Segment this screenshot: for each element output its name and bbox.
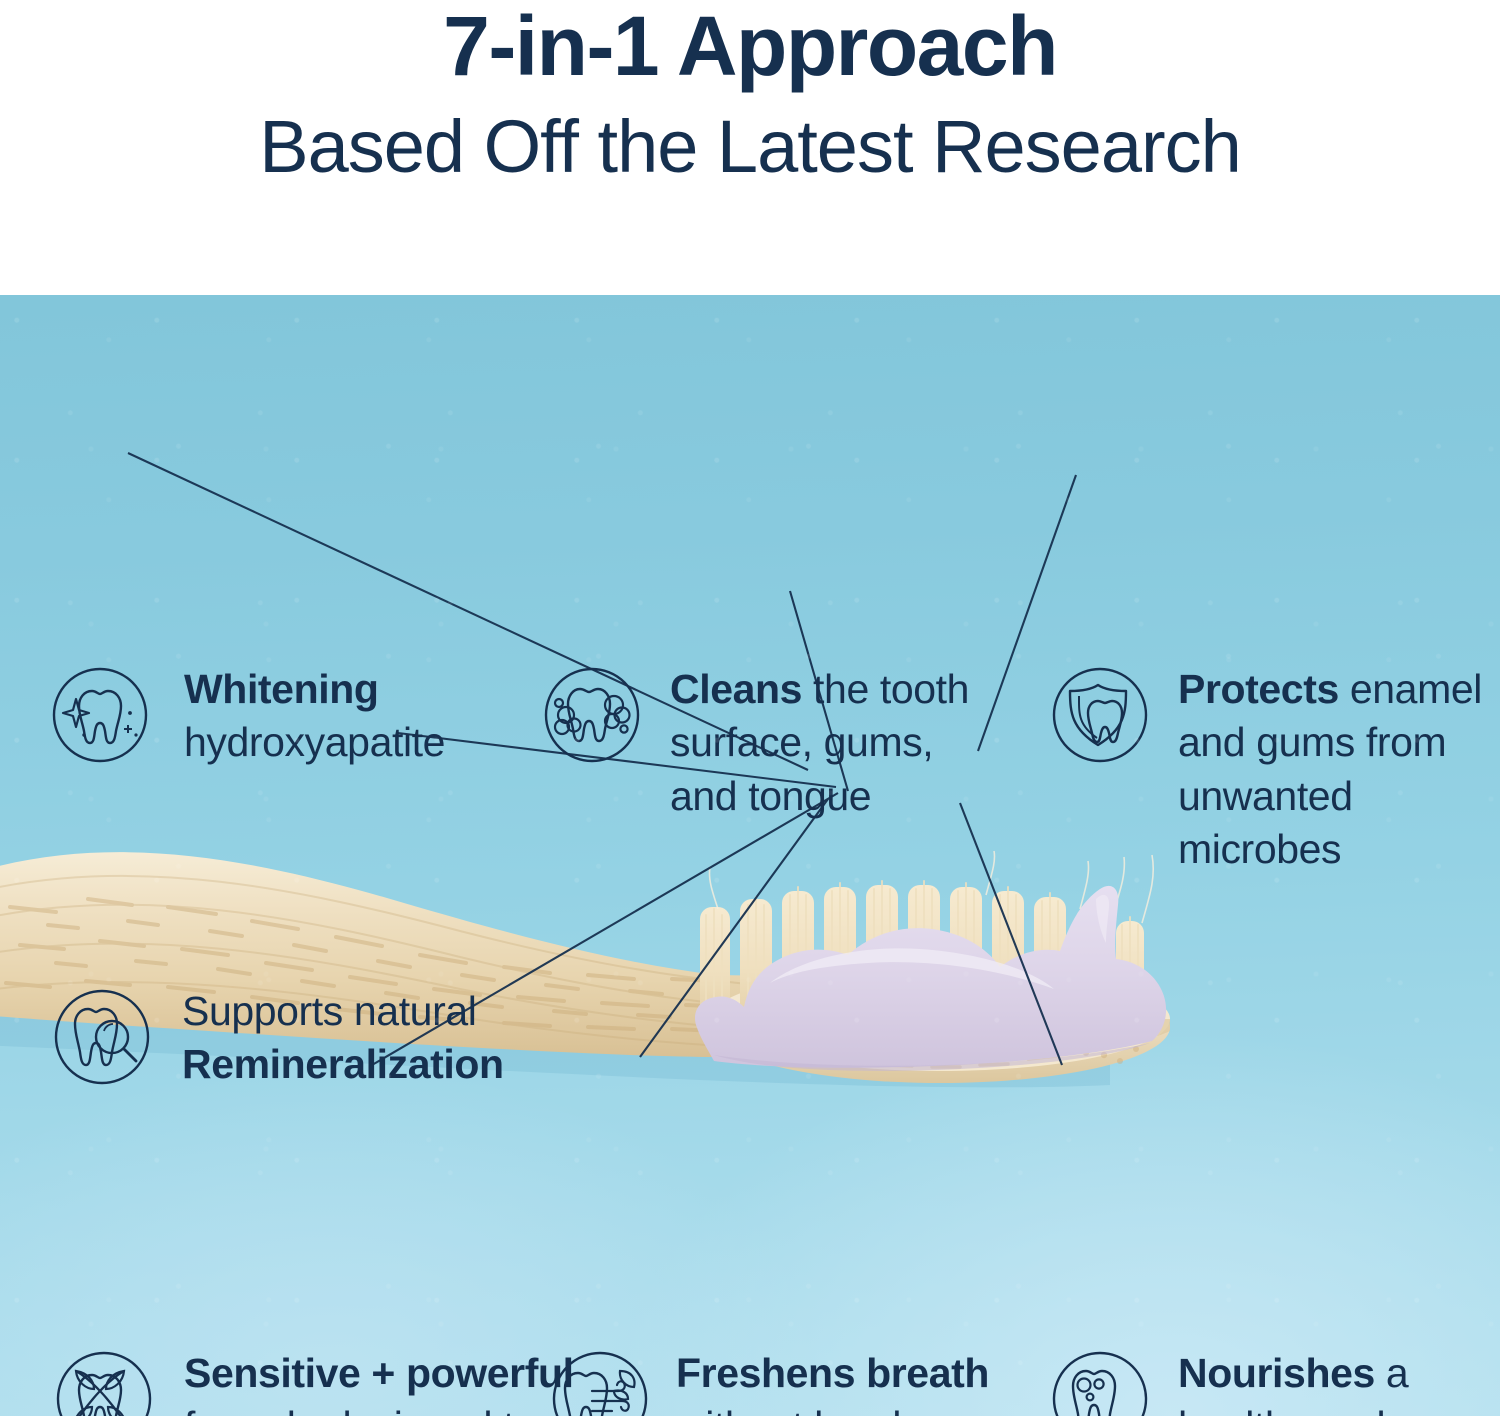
feature-sensitive-bold: Sensitive + powerful [184,1350,574,1396]
feature-sensitive: Sensitive + powerful formula designed to… [52,1347,592,1416]
feature-remineralization-bold: Remineralization [182,1041,504,1087]
header: 7-in-1 Approach Based Off the Latest Res… [0,0,1500,295]
tooth-crossed-icon [52,1347,156,1416]
product-photo-stage: Whitening hydroxyapatite [0,295,1500,1416]
shield-tooth-icon [1048,663,1152,767]
feature-sensitive-rest: formula designed to be easier on teeth a… [184,1403,583,1416]
feature-whitening-rest: hydroxyapatite [184,719,445,765]
tooth-sparkle-icon [48,663,152,767]
page-subtitle: Based Off the Latest Research [259,110,1241,184]
feature-protects: Protects enamel and gums from unwanted m… [1048,663,1488,876]
feature-freshens-bold: Freshens breath [676,1350,989,1396]
feature-remineralization-text: Supports natural Remineralization [182,985,582,1092]
feature-remineralization: Supports natural Remineralization [50,985,590,1092]
feature-cleans-bold: Cleans [670,666,802,712]
feature-cleans: Cleans the tooth surface, gums, and tong… [540,663,1010,823]
feature-sensitive-text: Sensitive + powerful formula designed to… [184,1347,584,1416]
tooth-magnifier-icon [50,985,154,1089]
infographic-page: 7-in-1 Approach Based Off the Latest Res… [0,0,1500,1416]
feature-nourishes-text: Nourishes a healthy oral microbiome [1178,1347,1488,1416]
feature-nourishes-bold: Nourishes [1178,1350,1375,1396]
feature-cleans-text: Cleans the tooth surface, gums, and tong… [670,663,1000,823]
feature-whitening-text: Whitening hydroxyapatite [184,663,534,770]
feature-protects-text: Protects enamel and gums from unwanted m… [1178,663,1488,876]
feature-remineralization-rest: Supports natural [182,988,476,1034]
feature-whitening-bold: Whitening [184,666,379,712]
tooth-mint-icon [548,1347,652,1416]
tooth-microbes-icon [1048,1347,1152,1416]
feature-freshens-rest: without harsh, artificial flavors [676,1403,940,1416]
tooth-foam-icon [540,663,644,767]
callouts: Whitening hydroxyapatite [0,295,1500,1416]
feature-freshens: Freshens breath without harsh, artificia… [548,1347,1028,1416]
feature-protects-bold: Protects [1178,666,1339,712]
feature-freshens-text: Freshens breath without harsh, artificia… [676,1347,1026,1416]
page-title: 7-in-1 Approach [443,4,1057,88]
feature-nourishes: Nourishes a healthy oral microbiome [1048,1347,1488,1416]
feature-whitening: Whitening hydroxyapatite [48,663,548,770]
